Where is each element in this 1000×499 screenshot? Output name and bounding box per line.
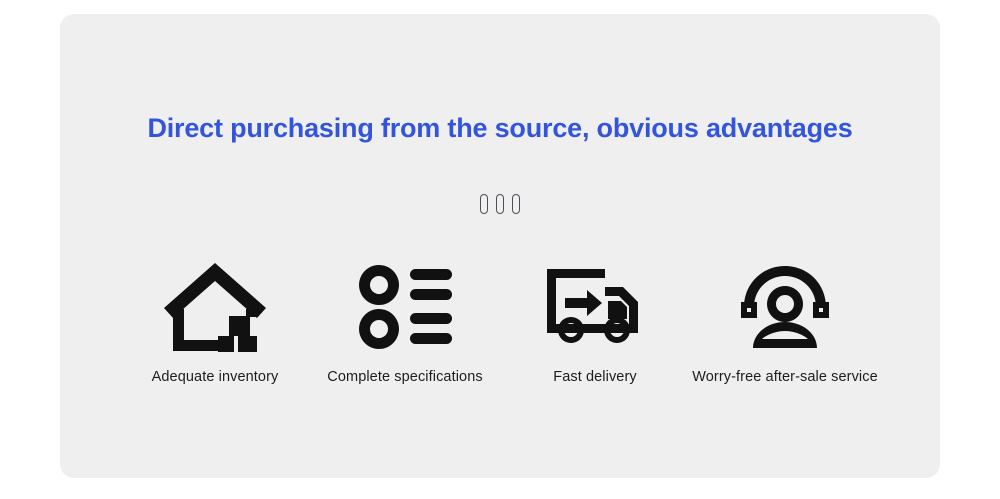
feature-panel: Direct purchasing from the source, obvio… bbox=[60, 14, 940, 478]
warehouse-house-boxes-icon bbox=[163, 257, 267, 357]
feature-list: Adequate inventory bbox=[120, 257, 880, 385]
list-bullet-circles-icon bbox=[357, 257, 453, 357]
headset-support-person-icon bbox=[736, 257, 834, 357]
page-title: Direct purchasing from the source, obvio… bbox=[60, 113, 940, 144]
feature-item-delivery: Fast delivery bbox=[500, 257, 690, 385]
divider-pip-icon bbox=[512, 194, 520, 214]
feature-label: Complete specifications bbox=[327, 369, 482, 385]
feature-item-support: Worry-free after-sale service bbox=[690, 257, 880, 385]
divider-pip-icon bbox=[480, 194, 488, 214]
three-pip-divider bbox=[60, 192, 940, 216]
delivery-truck-arrow-icon bbox=[545, 257, 645, 357]
feature-item-specifications: Complete specifications bbox=[310, 257, 500, 385]
banner-stage: Direct purchasing from the source, obvio… bbox=[0, 0, 1000, 499]
divider-pip-icon bbox=[496, 194, 504, 214]
feature-label: Fast delivery bbox=[553, 369, 637, 385]
feature-label: Adequate inventory bbox=[152, 369, 279, 385]
feature-item-inventory: Adequate inventory bbox=[120, 257, 310, 385]
feature-label: Worry-free after-sale service bbox=[692, 369, 878, 385]
